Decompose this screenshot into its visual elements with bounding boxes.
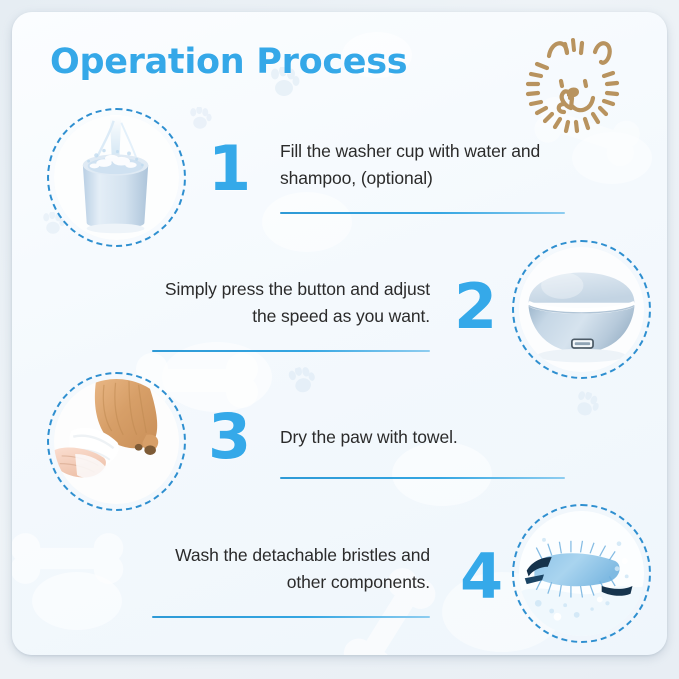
content-card: Operation Process bbox=[12, 12, 667, 655]
step-row-3: 3 Dry the paw with towel. bbox=[12, 372, 667, 522]
step-2-underline bbox=[152, 350, 430, 352]
step-row-4: 4 Wash the detachable bristles and other… bbox=[12, 504, 667, 654]
step-3-text: Dry the paw with towel. bbox=[280, 424, 580, 451]
step-1-text: Fill the washer cup with water and shamp… bbox=[280, 138, 580, 191]
infographic-page: Operation Process bbox=[0, 0, 679, 679]
step-3-number: 3 bbox=[208, 406, 251, 468]
washer-device-photo bbox=[519, 247, 644, 372]
step-2-text: Simply press the button and adjust the s… bbox=[140, 276, 430, 329]
step-1-number: 1 bbox=[208, 138, 251, 200]
step-3-underline bbox=[280, 477, 565, 479]
step-1-underline bbox=[280, 212, 565, 214]
step-2-photo-circle bbox=[512, 240, 651, 379]
drying-paw-with-towel-photo bbox=[54, 379, 179, 504]
cup-filling-with-water-photo bbox=[54, 115, 179, 240]
step-2-number: 2 bbox=[454, 276, 497, 338]
step-row-1: 1 Fill the washer cup with water and sha… bbox=[12, 108, 667, 258]
step-row-2: 2 Simply press the button and adjust the… bbox=[12, 240, 667, 390]
page-title: Operation Process bbox=[50, 42, 407, 82]
step-4-photo-circle bbox=[512, 504, 651, 643]
step-3-photo-circle bbox=[47, 372, 186, 511]
step-1-photo-circle bbox=[47, 108, 186, 247]
step-4-number: 4 bbox=[460, 546, 503, 608]
washing-bristles-photo bbox=[519, 511, 644, 636]
step-4-text: Wash the detachable bristles and other c… bbox=[140, 542, 430, 595]
step-4-underline bbox=[152, 616, 430, 618]
